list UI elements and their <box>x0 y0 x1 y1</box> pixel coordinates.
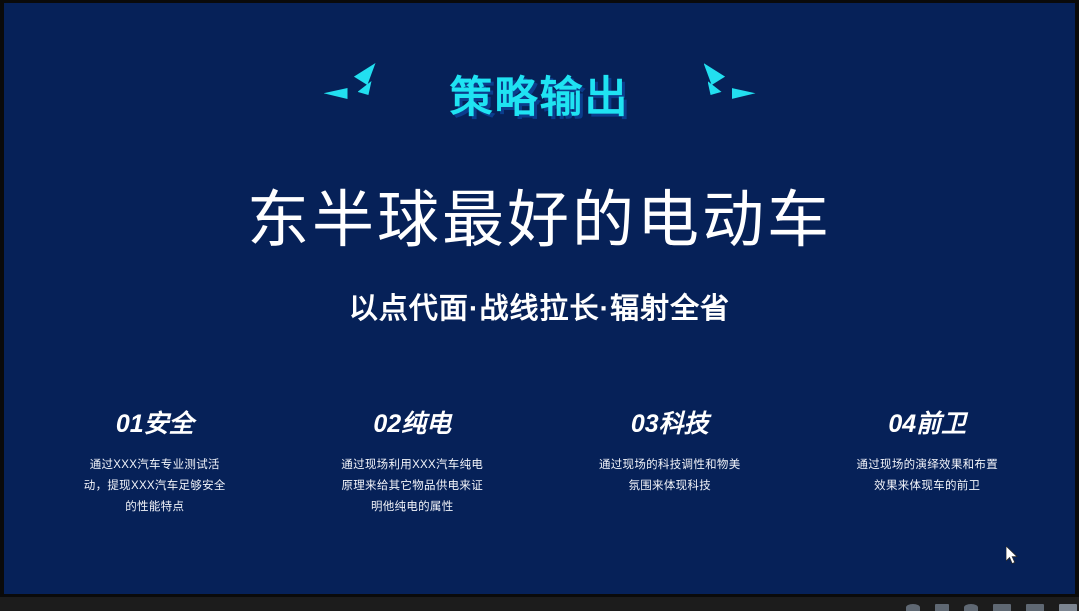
presentation-slide[interactable]: 策略输出 东半球最好的电动车 以点代面·战线拉长·辐射全省 01安全 通过XXX… <box>4 3 1075 594</box>
spark-marks-left-icon <box>322 59 386 137</box>
feature-column-03: 03科技 通过现场的科技调性和物美氛围来体现科技 <box>541 407 799 518</box>
taskbar-app-icon-3[interactable] <box>964 604 978 611</box>
feature-body: 通过现场的科技调性和物美氛围来体现科技 <box>595 455 745 497</box>
feature-column-04: 04前卫 通过现场的演绎效果和布置效果来体现车的前卫 <box>799 407 1057 518</box>
taskbar-app-icon-5[interactable] <box>1026 604 1044 611</box>
spark-wedge-icon <box>324 87 348 99</box>
spark-wedge-icon <box>732 87 756 99</box>
spark-wedge-icon <box>352 63 376 85</box>
feature-body: 通过现场的演绎效果和布置效果来体现车的前卫 <box>852 455 1002 497</box>
taskbar-app-icon-2[interactable] <box>935 604 949 611</box>
feature-heading: 03科技 <box>551 407 789 441</box>
taskbar-app-icon-4[interactable] <box>993 604 1011 611</box>
feature-heading: 01安全 <box>36 407 274 441</box>
feature-column-01: 01安全 通过XXX汽车专业测试活动，提现XXX汽车足够安全的性能特点 <box>26 407 284 518</box>
taskbar-icon-group <box>906 597 1077 611</box>
section-title: 策略输出 <box>390 59 690 137</box>
feature-heading: 04前卫 <box>809 407 1047 441</box>
slide-headline: 东半球最好的电动车 <box>4 184 1075 258</box>
taskbar-app-icon-6[interactable] <box>1059 604 1077 611</box>
section-title-inner: 策略输出 <box>390 59 690 137</box>
section-title-block: 策略输出 <box>4 59 1075 137</box>
taskbar-app-icon-1[interactable] <box>906 604 920 611</box>
feature-heading: 02纯电 <box>294 407 532 441</box>
feature-column-02: 02纯电 通过现场利用XXX汽车纯电原理来给其它物品供电来证明他纯电的属性 <box>284 407 542 518</box>
slide-subheadline: 以点代面·战线拉长·辐射全省 <box>4 289 1075 329</box>
application-frame: 策略输出 东半球最好的电动车 以点代面·战线拉长·辐射全省 01安全 通过XXX… <box>0 0 1079 611</box>
spark-marks-right-icon <box>694 59 758 137</box>
feature-body: 通过现场利用XXX汽车纯电原理来给其它物品供电来证明他纯电的属性 <box>337 455 487 518</box>
spark-wedge-icon <box>704 63 728 85</box>
feature-body: 通过XXX汽车专业测试活动，提现XXX汽车足够安全的性能特点 <box>80 455 230 518</box>
feature-columns: 01安全 通过XXX汽车专业测试活动，提现XXX汽车足够安全的性能特点 02纯电… <box>26 407 1056 518</box>
taskbar[interactable] <box>0 597 1079 611</box>
